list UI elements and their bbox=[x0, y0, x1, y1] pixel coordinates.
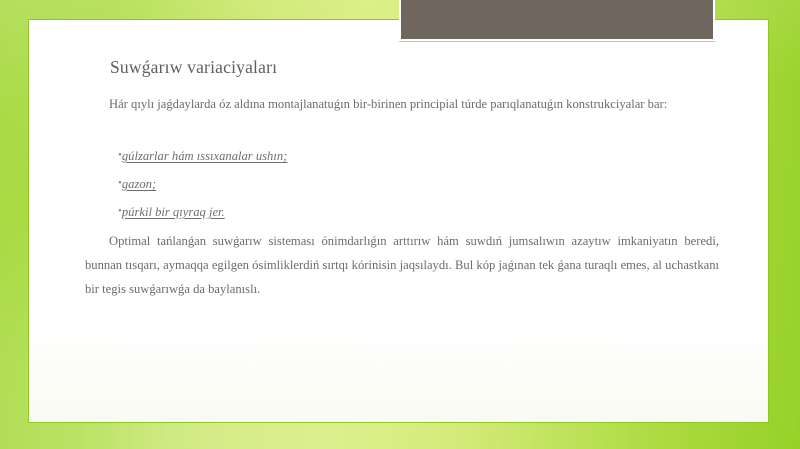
list-item: •gúlzarlar hám ıssıxanalar ushın; bbox=[118, 145, 678, 173]
list-item-label: gúlzarlar hám ıssıxanalar ushın; bbox=[122, 149, 287, 163]
list-item-label: púrkil bir qıyraq jer. bbox=[122, 205, 225, 219]
presentation-slide: Suwǵarıw variaciyaları Hár qıylı jaǵdayl… bbox=[0, 0, 800, 449]
list-item: •gazon; bbox=[118, 173, 678, 201]
bullet-list: •gúlzarlar hám ıssıxanalar ushın; •gazon… bbox=[118, 145, 678, 229]
slide-title: Suwǵarıw variaciyaları bbox=[110, 57, 277, 78]
slide-body: Suwǵarıw variaciyaları Hár qıylı jaǵdayl… bbox=[0, 0, 800, 449]
outro-paragraph: Optimal tańlanǵan suwǵarıw sisteması óni… bbox=[85, 229, 719, 301]
intro-paragraph: Hár qıylı jaǵdaylarda óz aldına montajla… bbox=[85, 92, 719, 116]
list-item: •púrkil bir qıyraq jer. bbox=[118, 201, 678, 229]
list-item-label: gazon; bbox=[122, 177, 156, 191]
